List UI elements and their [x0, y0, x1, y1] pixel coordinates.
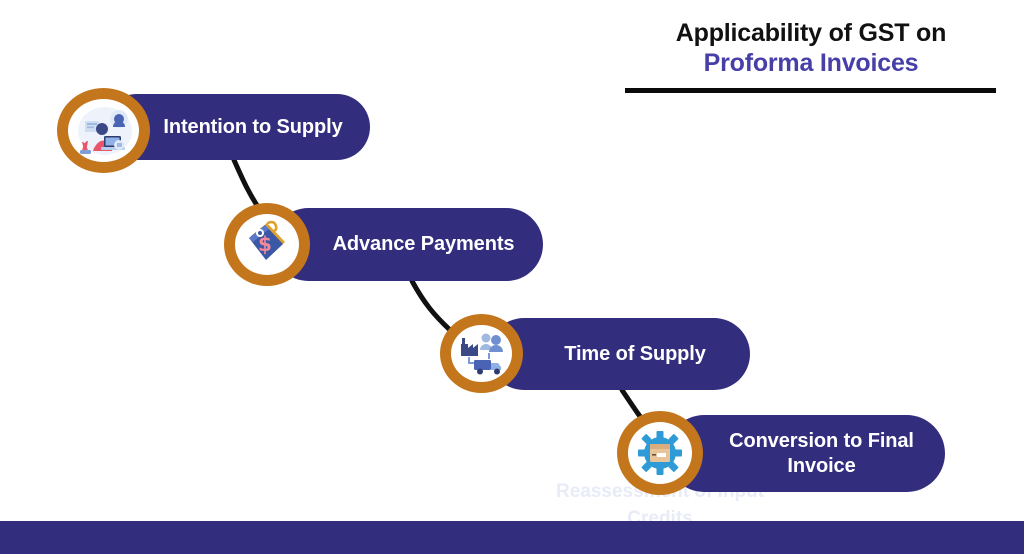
step-3-label: Time of Supply [488, 342, 750, 367]
supply-chain-factory-truck-icon [440, 314, 523, 393]
title-underline-rule [625, 88, 996, 93]
step-3-pill[interactable]: Time of Supply [488, 318, 750, 390]
step-2-pill[interactable]: Advance Payments [272, 208, 543, 281]
connector-step2-step3 [412, 281, 450, 330]
title-line-primary: Applicability of GST on [625, 18, 997, 48]
gear-package-icon [617, 411, 703, 495]
title-line-accent: Proforma Invoices [625, 48, 997, 79]
price-tag-dollar-icon: $ [224, 203, 310, 286]
person-at-desk-workspace-icon [57, 88, 150, 173]
step-4-pill[interactable]: Conversion to Final Invoice [666, 415, 945, 492]
svg-text:$: $ [258, 232, 272, 256]
footer-bar [0, 521, 1024, 554]
infographic-canvas: Applicability of GST on Proforma Invoice… [0, 0, 1024, 554]
step-4-label: Conversion to Final Invoice [666, 429, 945, 479]
page-title: Applicability of GST on Proforma Invoice… [625, 18, 997, 79]
step-2-label: Advance Payments [272, 232, 543, 257]
connector-step1-step2 [234, 160, 260, 210]
